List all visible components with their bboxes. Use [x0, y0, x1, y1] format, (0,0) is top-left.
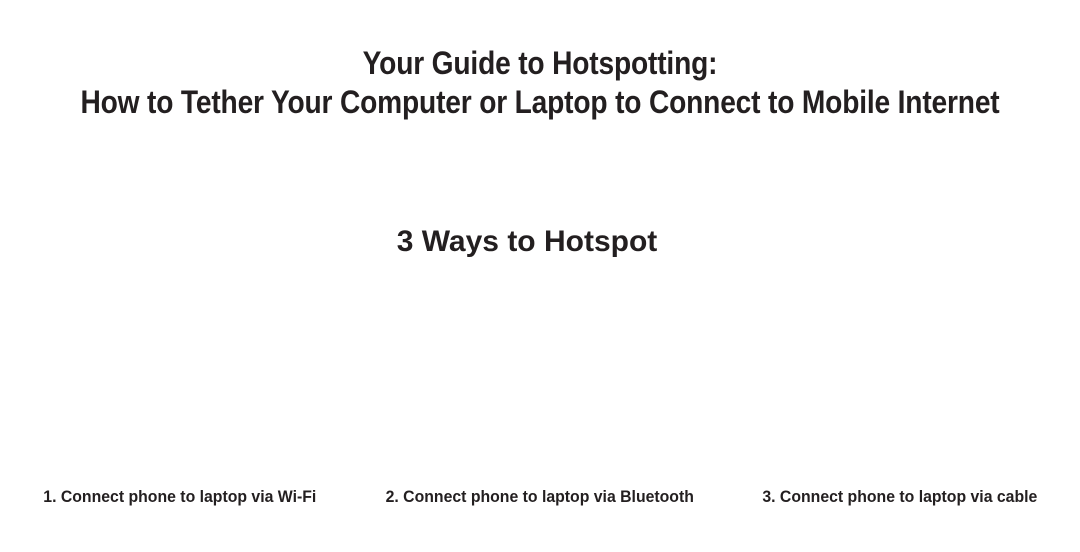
illustration-bluetooth — [370, 290, 710, 475]
method-item-2: 2. Connect phone to laptop via Bluetooth — [360, 486, 720, 508]
illustration-row — [0, 290, 1080, 475]
method-caption-1: 1. Connect phone to laptop via Wi-Fi — [43, 486, 316, 508]
caption-row: 1. Connect phone to laptop via Wi-Fi 2. … — [0, 486, 1080, 508]
section-heading-text: 3 Ways to Hotspot — [397, 225, 658, 258]
section-heading: 3 Ways to Hotspot — [0, 224, 1080, 260]
page-title: Your Guide to Hotspotting: How to Tether… — [0, 44, 1080, 122]
method-caption-3: 3. Connect phone to laptop via cable — [763, 486, 1038, 508]
method-caption-2: 2. Connect phone to laptop via Bluetooth — [386, 486, 694, 508]
method-item-1: 1. Connect phone to laptop via Wi-Fi — [0, 486, 360, 508]
illustration-cable — [740, 290, 1080, 475]
page-title-line-1: Your Guide to Hotspotting: — [65, 44, 1015, 83]
infographic-page: Your Guide to Hotspotting: How to Tether… — [0, 0, 1080, 552]
illustration-wifi — [0, 290, 340, 475]
method-item-3: 3. Connect phone to laptop via cable — [720, 486, 1080, 508]
page-title-line-2: How to Tether Your Computer or Laptop to… — [65, 83, 1015, 122]
